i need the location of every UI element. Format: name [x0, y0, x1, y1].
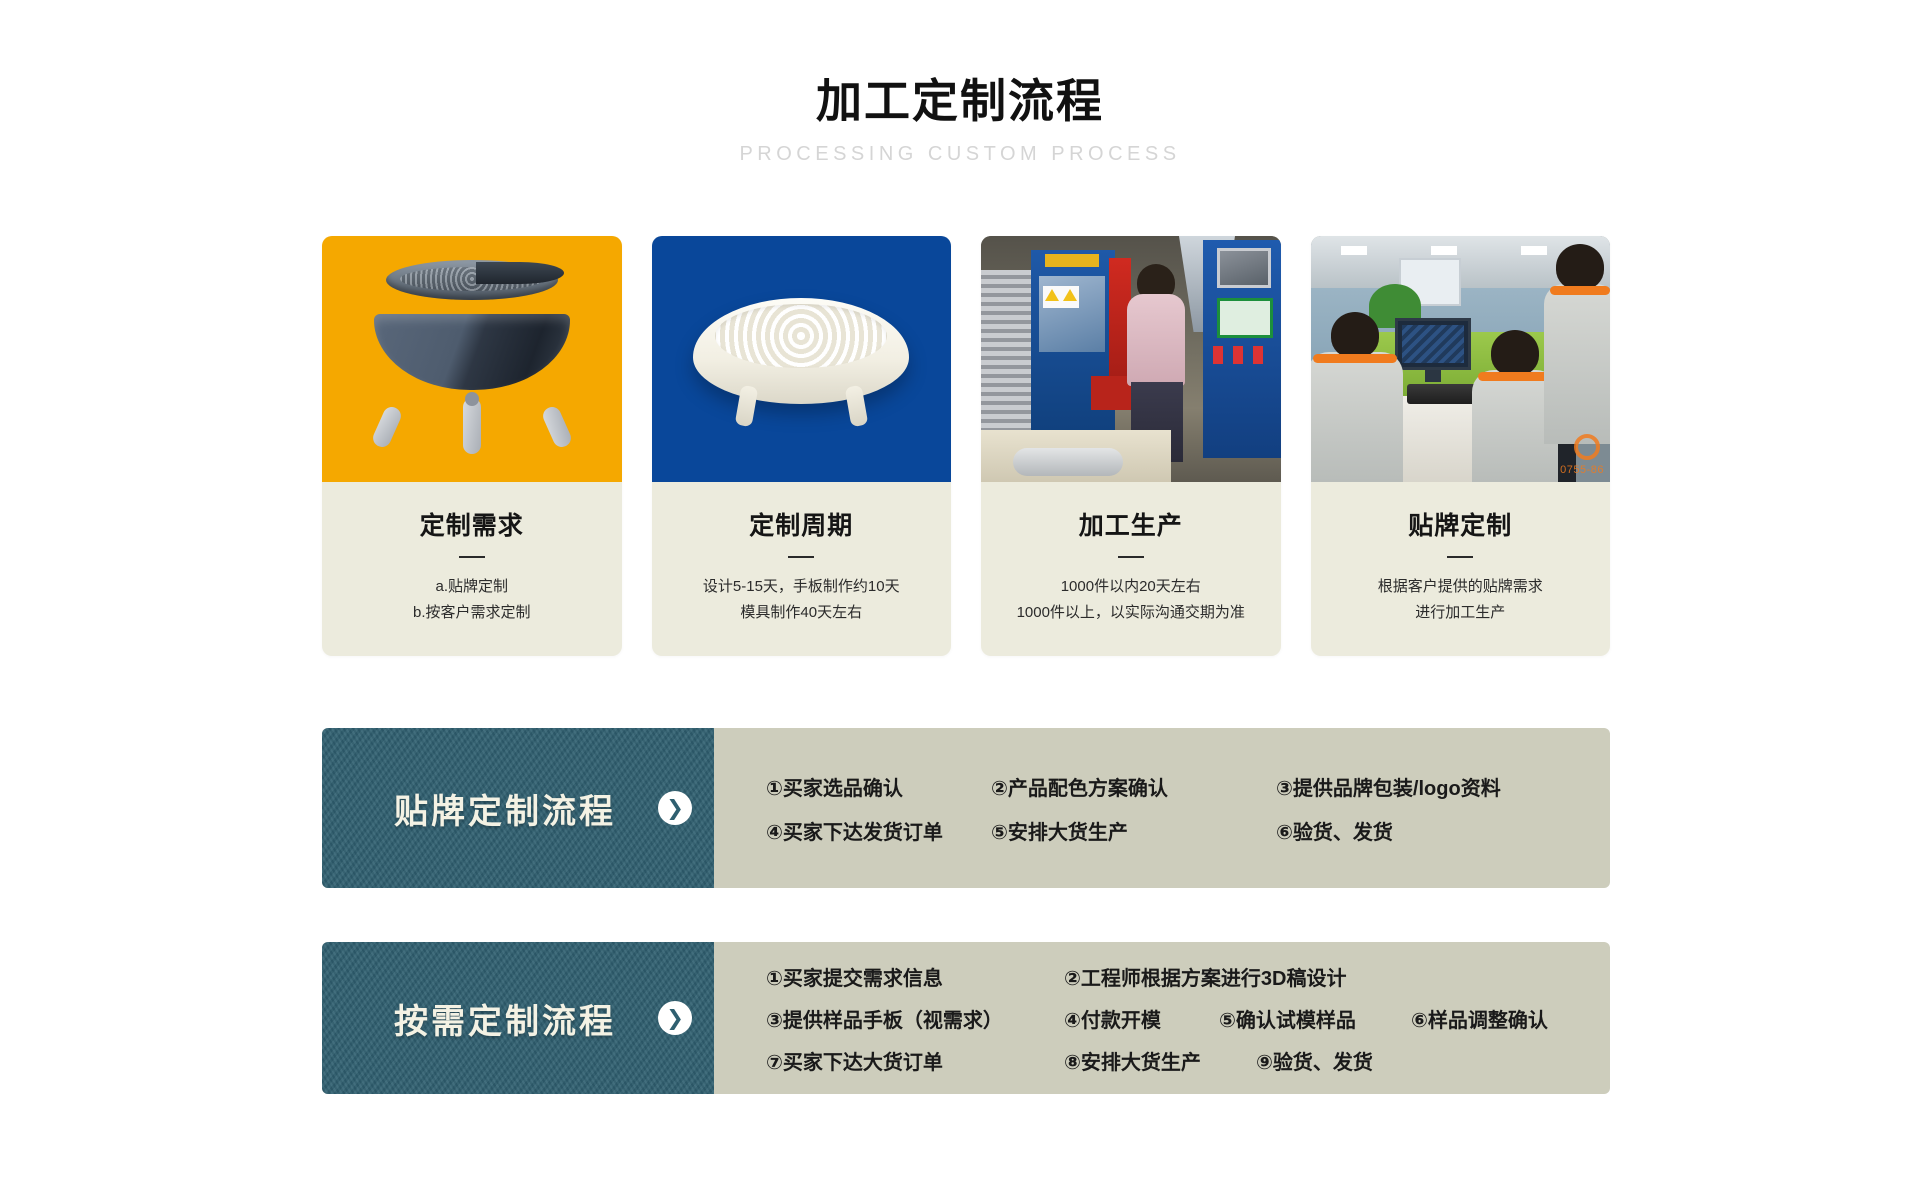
card-description: a.贴牌定制 b.按客户需求定制	[336, 574, 608, 626]
person-collar	[1478, 372, 1552, 381]
card-image-office-design-team: 0755-86	[1311, 236, 1611, 482]
card-description-line: 设计5-15天，手板制作约10天	[666, 574, 938, 600]
page-header: 加工定制流程 PROCESSING CUSTOM PROCESS	[0, 0, 1920, 166]
flow-label-block[interactable]: 贴牌定制流程 ❯	[322, 728, 714, 888]
ceiling-light-icon	[1431, 246, 1457, 255]
card-description: 1000件以内20天左右 1000件以上，以实际沟通交期为准	[995, 574, 1267, 626]
flow-step: ①买家选品确认	[766, 772, 991, 801]
flow-label-block[interactable]: 按需定制流程 ❯	[322, 942, 714, 1094]
chevron-right-icon[interactable]: ❯	[658, 1001, 692, 1035]
card-description-line: b.按客户需求定制	[336, 600, 608, 626]
warning-sign-icon	[1043, 286, 1079, 308]
person-left	[1311, 352, 1403, 482]
page-root: 加工定制流程 PROCESSING CUSTOM PROCESS 定制需求 a.…	[0, 0, 1920, 1200]
page-title: 加工定制流程	[0, 76, 1920, 127]
person-head	[1331, 312, 1379, 358]
factory-part-stack	[981, 270, 1037, 450]
flow-step: ⑥验货、发货	[1276, 816, 1393, 845]
product-lid-dark-shape	[476, 262, 564, 284]
card-title: 贴牌定制	[1325, 506, 1597, 542]
monitor-stand	[1425, 370, 1441, 382]
card-description: 根据客户提供的贴牌需求 进行加工生产	[1325, 574, 1597, 626]
flow-step: ⑧安排大货生产	[1064, 1046, 1256, 1075]
watermark-phone-text: 0755-86	[1560, 464, 1604, 476]
flow-step: ⑤安排大货生产	[991, 816, 1276, 845]
flow-step: ④买家下达发货订单	[766, 816, 991, 845]
control-panel-screen-lower	[1217, 298, 1273, 338]
process-card-list: 定制需求 a.贴牌定制 b.按客户需求定制 定制周期 设计5-15天，手板制作约…	[322, 236, 1610, 656]
flow-step-row: ①买家提交需求信息 ②工程师根据方案进行3D稿设计	[766, 955, 1610, 997]
card-description-line: 1000件以内20天左右	[995, 574, 1267, 600]
flow-step: ⑤确认试模样品	[1219, 1004, 1411, 1033]
flow-step-row: ③提供样品手板（视需求） ④付款开模 ⑤确认试模样品 ⑥样品调整确认	[766, 997, 1610, 1039]
card-description-line: a.贴牌定制	[336, 574, 608, 600]
control-panel-screen-upper	[1217, 248, 1271, 288]
card-body: 定制需求 a.贴牌定制 b.按客户需求定制	[322, 482, 622, 656]
flow-step-row: ⑦买家下达大货订单 ⑧安排大货生产 ⑨验货、发货	[766, 1039, 1610, 1081]
control-panel-buttons	[1213, 346, 1273, 364]
product-bowl-shape	[374, 314, 570, 390]
flow-step: ③提供样品手板（视需求）	[766, 1004, 1064, 1033]
person-collar	[1550, 286, 1610, 295]
product-leg-right-shape	[540, 404, 574, 450]
process-card[interactable]: 定制需求 a.贴牌定制 b.按客户需求定制	[322, 236, 622, 656]
flow-step-list: ①买家选品确认 ②产品配色方案确认 ③提供品牌包装/logo资料 ④买家下达发货…	[714, 728, 1610, 888]
factory-machine-label	[1045, 254, 1099, 267]
card-image-white-prototype	[652, 236, 952, 482]
card-image-factory-production	[981, 236, 1281, 482]
ceiling-light-icon	[1341, 246, 1367, 255]
card-divider	[459, 556, 485, 558]
process-card[interactable]: 0755-86 贴牌定制 根据客户提供的贴牌需求 进行加工生产	[1311, 236, 1611, 656]
flow-label-text: 按需定制流程	[394, 994, 616, 1043]
card-image-exploded-product	[322, 236, 622, 482]
process-card[interactable]: 加工生产 1000件以内20天左右 1000件以上，以实际沟通交期为准	[981, 236, 1281, 656]
chevron-right-icon[interactable]: ❯	[658, 791, 692, 825]
card-title: 定制需求	[336, 506, 608, 542]
flow-banner-oem: 贴牌定制流程 ❯ ①买家选品确认 ②产品配色方案确认 ③提供品牌包装/logo资…	[322, 728, 1610, 888]
worker-body	[1127, 294, 1185, 386]
flow-step: ⑥样品调整确认	[1411, 1004, 1548, 1033]
card-description: 设计5-15天，手板制作约10天 模具制作40天左右	[666, 574, 938, 626]
card-title: 定制周期	[666, 506, 938, 542]
flow-step: ②工程师根据方案进行3D稿设计	[1064, 962, 1347, 991]
card-title: 加工生产	[995, 506, 1267, 542]
card-description-line: 进行加工生产	[1325, 600, 1597, 626]
person-head	[1491, 330, 1539, 376]
person-right	[1544, 284, 1610, 444]
card-description-line: 1000件以上，以实际沟通交期为准	[995, 600, 1267, 626]
flow-step-list: ①买家提交需求信息 ②工程师根据方案进行3D稿设计 ③提供样品手板（视需求） ④…	[714, 942, 1610, 1094]
flow-step: ②产品配色方案确认	[991, 772, 1276, 801]
page-subtitle: PROCESSING CUSTOM PROCESS	[0, 143, 1920, 166]
person-collar	[1313, 354, 1397, 363]
process-card[interactable]: 定制周期 设计5-15天，手板制作约10天 模具制作40天左右	[652, 236, 952, 656]
product-leg-left-shape	[370, 404, 404, 450]
ceiling-light-icon	[1521, 246, 1547, 255]
card-body: 定制周期 设计5-15天，手板制作约10天 模具制作40天左右	[652, 482, 952, 656]
flow-step: ④付款开模	[1064, 1004, 1219, 1033]
card-description-line: 根据客户提供的贴牌需求	[1325, 574, 1597, 600]
card-divider	[1118, 556, 1144, 558]
product-leg-center-shape	[463, 398, 481, 454]
person-head	[1556, 244, 1604, 290]
flow-step: ③提供品牌包装/logo资料	[1276, 772, 1501, 801]
molded-part	[1013, 448, 1123, 476]
flow-banner-ondemand: 按需定制流程 ❯ ①买家提交需求信息 ②工程师根据方案进行3D稿设计 ③提供样品…	[322, 942, 1610, 1094]
flow-step: ①买家提交需求信息	[766, 962, 1064, 991]
flow-step: ⑨验货、发货	[1256, 1046, 1373, 1075]
card-body: 贴牌定制 根据客户提供的贴牌需求 进行加工生产	[1311, 482, 1611, 656]
company-logo-watermark-icon	[1574, 434, 1600, 460]
flow-step-row: ④买家下达发货订单 ⑤安排大货生产 ⑥验货、发货	[766, 808, 1610, 852]
card-body: 加工生产 1000件以内20天左右 1000件以上，以实际沟通交期为准	[981, 482, 1281, 656]
flow-label-text: 贴牌定制流程	[394, 784, 616, 833]
flow-step-row: ①买家选品确认 ②产品配色方案确认 ③提供品牌包装/logo资料	[766, 764, 1610, 808]
card-divider	[1447, 556, 1473, 558]
prototype-body-shape	[693, 298, 909, 404]
flow-step: ⑦买家下达大货订单	[766, 1046, 1064, 1075]
cad-monitor	[1395, 318, 1471, 370]
card-divider	[788, 556, 814, 558]
card-description-line: 模具制作40天左右	[666, 600, 938, 626]
